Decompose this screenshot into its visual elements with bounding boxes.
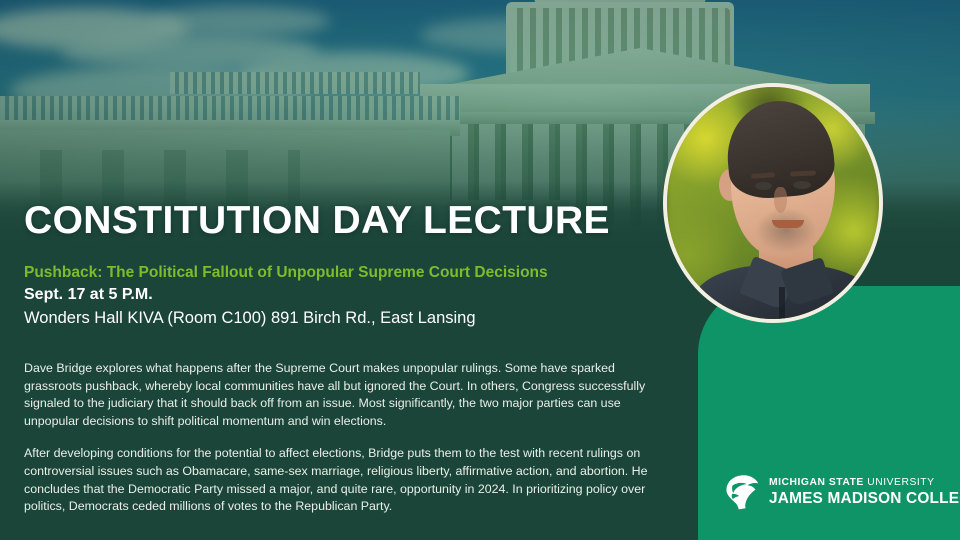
event-datetime: Sept. 17 at 5 P.M.: [24, 285, 153, 304]
description-paragraph: After developing conditions for the pote…: [24, 445, 656, 515]
logo-university: UNIVERSITY: [864, 477, 935, 488]
logo-text-block: MICHIGAN STATE UNIVERSITY JAMES MADISON …: [769, 478, 960, 507]
logo-university-line: MICHIGAN STATE UNIVERSITY: [769, 478, 960, 488]
lecture-subtitle: Pushback: The Political Fallout of Unpop…: [24, 264, 548, 283]
logo-college-line: JAMES MADISON COLLEGE: [769, 491, 960, 506]
speaker-portrait: [663, 83, 883, 323]
portrait-eye-left: [755, 182, 772, 190]
portrait-nose: [774, 187, 787, 213]
spartan-helmet-icon: [720, 473, 760, 511]
portrait-beard: [743, 199, 829, 261]
page-title: CONSTITUTION DAY LECTURE: [24, 201, 610, 240]
portrait-shirt-placket: [779, 287, 785, 323]
event-poster: CONSTITUTION DAY LECTURE Pushback: The P…: [0, 0, 960, 540]
portrait-mouth: [772, 220, 804, 228]
msu-jmc-logo: MICHIGAN STATE UNIVERSITY JAMES MADISON …: [720, 470, 952, 514]
portrait-eye-right: [793, 181, 811, 189]
event-venue: Wonders Hall KIVA (Room C100) 891 Birch …: [24, 308, 476, 329]
event-description: Dave Bridge explores what happens after …: [24, 360, 656, 516]
logo-michigan-state: MICHIGAN STATE: [769, 477, 864, 488]
description-paragraph: Dave Bridge explores what happens after …: [24, 360, 656, 430]
